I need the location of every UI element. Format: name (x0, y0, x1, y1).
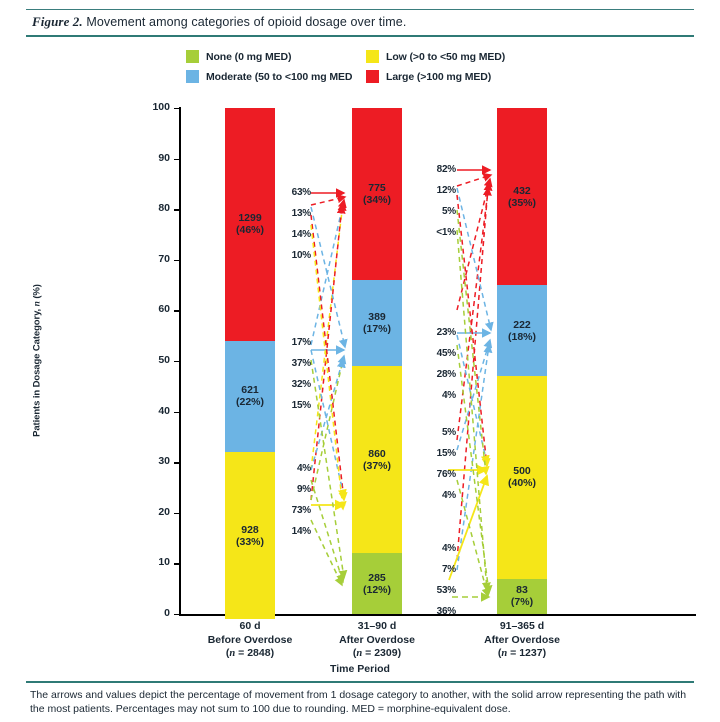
y-axis-line (179, 107, 181, 615)
y-tick-label-30: 30 (140, 455, 170, 467)
y-axis-title: Patients in Dosage Category, n (%) (32, 261, 43, 461)
segment-count: 928 (241, 524, 259, 536)
y-tick-mark-30 (174, 462, 179, 463)
transition-pct-gap1-g3-1: 4% (277, 463, 311, 474)
bar-segment-moderate-period-3: 222(18%) (497, 285, 547, 376)
y-tick-mark-10 (174, 563, 179, 564)
segment-percent: (40%) (508, 477, 536, 489)
transition-pct-gap2-g1-3: 5% (422, 206, 456, 217)
y-tick-label-80: 80 (140, 202, 170, 214)
segment-count: 775 (368, 182, 386, 194)
bar-segment-large-period-2: 775(34%) (352, 108, 402, 280)
y-tick-label-100: 100 (140, 101, 170, 113)
y-tick-label-20: 20 (140, 506, 170, 518)
transition-pct-gap2-g3-3: 76% (422, 469, 456, 480)
bar-segment-large-period-3: 432(35%) (497, 108, 547, 285)
segment-count: 222 (513, 319, 531, 331)
y-tick-label-0: 0 (140, 607, 170, 619)
transition-pct-gap1-g1-4: 10% (277, 250, 311, 261)
segment-count: 860 (368, 448, 386, 460)
transition-pct-gap1-g2-4: 15% (277, 400, 311, 411)
transition-pct-gap1-g2-1: 17% (277, 337, 311, 348)
y-tick-label-10: 10 (140, 556, 170, 568)
segment-count: 500 (513, 465, 531, 477)
bar-period-1: 1299(46%)621(22%)928(33%) (225, 108, 275, 614)
x-axis-title: Time Period (275, 663, 445, 675)
transition-pct-gap2-g4-2: 7% (422, 564, 456, 575)
y-tick-mark-90 (174, 159, 179, 160)
bar-segment-low-period-1: 928(33%) (225, 452, 275, 619)
transition-pct-gap2-g1-4: <1% (422, 227, 456, 238)
transition-pct-gap2-g3-1: 5% (422, 427, 456, 438)
y-tick-mark-60 (174, 310, 179, 311)
figure-container: Figure 2. Movement among categories of o… (0, 0, 720, 722)
x-label-period-3: 91–365 dAfter Overdose(n = 1237) (437, 620, 607, 661)
x-label-line1: 91–365 d (437, 620, 607, 634)
bar-segment-low-period-3: 500(40%) (497, 376, 547, 578)
y-tick-label-40: 40 (140, 405, 170, 417)
transition-pct-gap1-g2-2: 37% (277, 358, 311, 369)
footnote-text: The arrows and values depict the percent… (30, 688, 692, 716)
transition-pct-gap2-g3-2: 15% (422, 448, 456, 459)
segment-percent: (17%) (363, 323, 391, 335)
segment-percent: (22%) (236, 396, 264, 408)
transition-pct-gap1-g1-2: 13% (277, 208, 311, 219)
segment-percent: (37%) (363, 460, 391, 472)
transition-pct-gap2-g2-2: 45% (422, 348, 456, 359)
y-tick-label-60: 60 (140, 303, 170, 315)
transition-pct-gap1-g2-3: 32% (277, 379, 311, 390)
bar-segment-none-period-2: 285(12%) (352, 553, 402, 614)
bar-period-3: 432(35%)222(18%)500(40%)83(7%) (497, 108, 547, 614)
y-tick-mark-50 (174, 361, 179, 362)
bar-segment-moderate-period-1: 621(22%) (225, 341, 275, 452)
y-axis-title-italic: n (33, 301, 43, 306)
y-tick-mark-40 (174, 412, 179, 413)
segment-percent: (7%) (511, 596, 533, 608)
transition-pct-gap2-g1-2: 12% (422, 185, 456, 196)
transition-pct-gap2-g4-3: 53% (422, 585, 456, 596)
y-axis-title-tail: (%) (32, 284, 43, 301)
transition-pct-gap2-g2-4: 4% (422, 390, 456, 401)
transition-pct-gap1-g3-2: 9% (277, 484, 311, 495)
bar-segment-large-period-1: 1299(46%) (225, 108, 275, 341)
transition-pct-gap1-g1-1: 63% (277, 187, 311, 198)
segment-percent: (18%) (508, 331, 536, 343)
transition-pct-gap2-g3-4: 4% (422, 490, 456, 501)
bar-period-2: 775(34%)389(17%)860(37%)285(12%) (352, 108, 402, 614)
bar-segment-low-period-2: 860(37%) (352, 366, 402, 553)
segment-count: 432 (513, 185, 531, 197)
footnote-rule (26, 681, 694, 683)
segment-count: 285 (368, 572, 386, 584)
y-tick-label-90: 90 (140, 152, 170, 164)
plot-area: Patients in Dosage Category, n (%) 10090… (0, 0, 720, 722)
y-tick-mark-100 (174, 108, 179, 109)
transition-pct-gap1-g3-4: 14% (277, 526, 311, 537)
y-axis-title-text: Patients in Dosage Category, (32, 306, 43, 437)
segment-count: 1299 (238, 212, 261, 224)
x-label-line2: After Overdose (437, 634, 607, 648)
transition-pct-gap2-g2-1: 23% (422, 327, 456, 338)
segment-count: 389 (368, 311, 386, 323)
bar-segment-moderate-period-2: 389(17%) (352, 280, 402, 366)
y-tick-label-50: 50 (140, 354, 170, 366)
segment-count: 83 (516, 584, 528, 596)
segment-percent: (35%) (508, 197, 536, 209)
segment-percent: (34%) (363, 194, 391, 206)
segment-percent: (33%) (236, 536, 264, 548)
y-tick-mark-80 (174, 209, 179, 210)
y-tick-mark-70 (174, 260, 179, 261)
transition-pct-gap2-g2-3: 28% (422, 369, 456, 380)
transition-pct-gap2-g4-1: 4% (422, 543, 456, 554)
transition-pct-gap2-g1-1: 82% (422, 164, 456, 175)
transition-pct-gap1-g1-3: 14% (277, 229, 311, 240)
transition-pct-gap2-g4-4: 36% (422, 606, 456, 617)
y-tick-label-70: 70 (140, 253, 170, 265)
y-tick-mark-20 (174, 513, 179, 514)
transition-pct-gap1-g3-3: 73% (277, 505, 311, 516)
y-tick-mark-0 (174, 614, 179, 615)
segment-count: 621 (241, 384, 259, 396)
x-label-n: (n = 1237) (437, 647, 607, 661)
segment-percent: (46%) (236, 224, 264, 236)
segment-percent: (12%) (363, 584, 391, 596)
bar-segment-none-period-3: 83(7%) (497, 579, 547, 614)
